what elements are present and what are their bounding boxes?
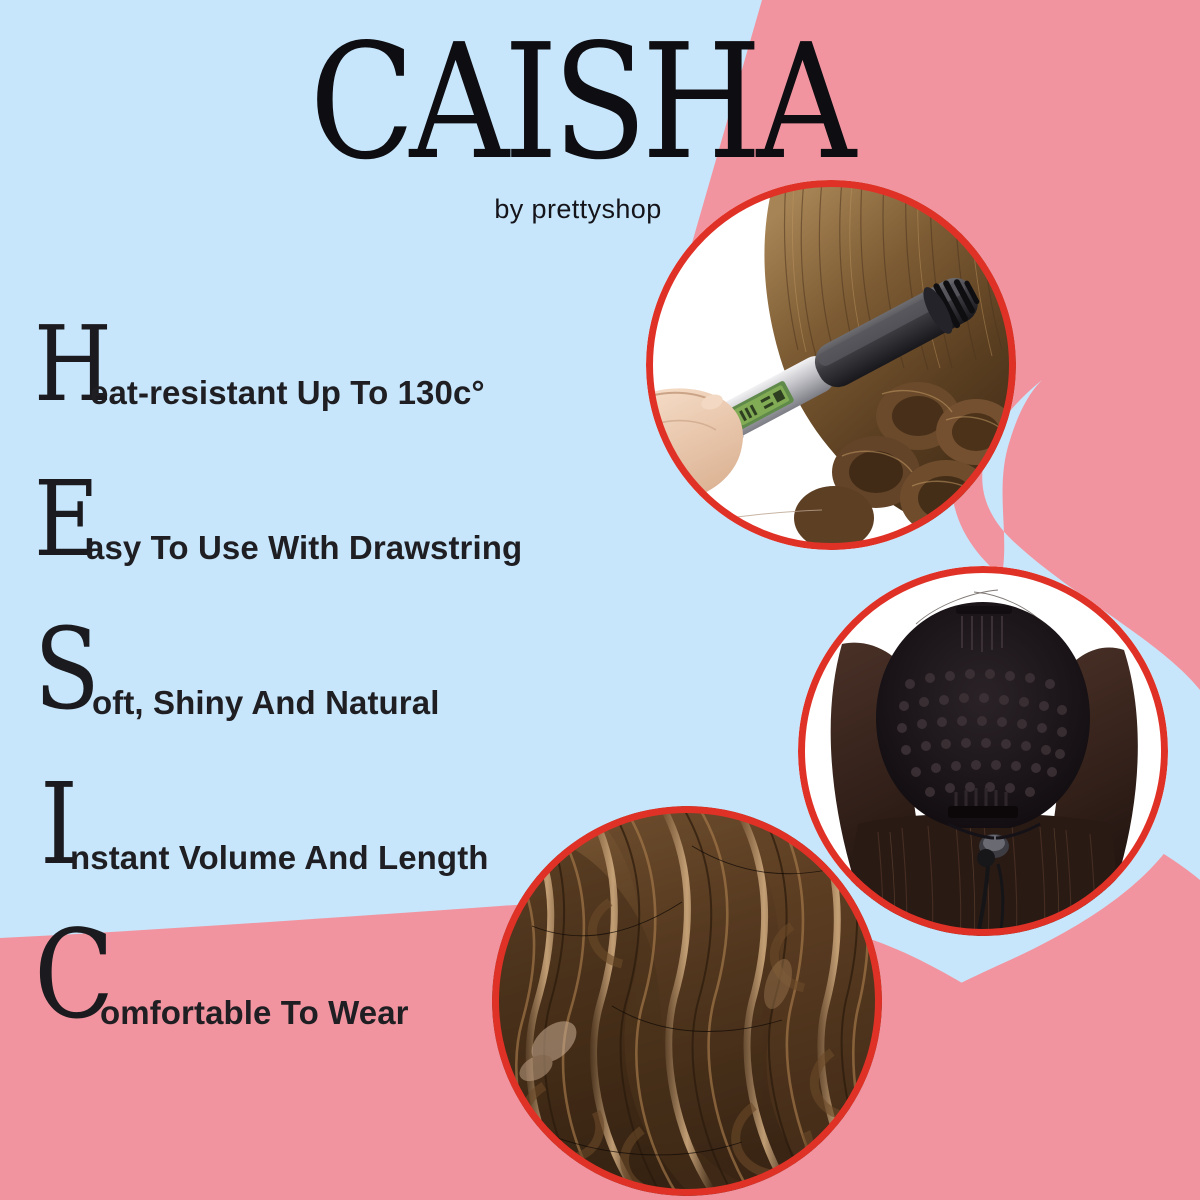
feature-label: oft, Shiny And Natural <box>92 684 439 722</box>
brand-tagline: by prettyshop <box>0 194 1178 225</box>
feature-label: nstant Volume And Length <box>70 839 489 877</box>
feature-dropcap: S <box>34 614 100 726</box>
feature-label: eat-resistant Up To 130c° <box>90 374 485 412</box>
feature-item-easy-to-use: E asy To Use With Drawstring <box>34 473 654 628</box>
feature-label: asy To Use With Drawstring <box>86 529 522 567</box>
feature-item-soft-shiny: S oft, Shiny And Natural <box>34 628 654 783</box>
product-infographic-poster: CAISHA by prettyshop H eat-resistant Up … <box>0 0 1200 1200</box>
feature-item-heat-resistant: H eat-resistant Up To 130c° <box>34 318 654 473</box>
flat-iron-styling-photo <box>646 180 1016 550</box>
hair-texture-photo <box>492 806 882 1196</box>
feature-label: omfortable To Wear <box>100 994 409 1032</box>
drawstring-cap-photo <box>798 566 1168 936</box>
brand-logo: CAISHA by prettyshop <box>0 28 1200 225</box>
brand-wordmark: CAISHA <box>28 24 1132 183</box>
